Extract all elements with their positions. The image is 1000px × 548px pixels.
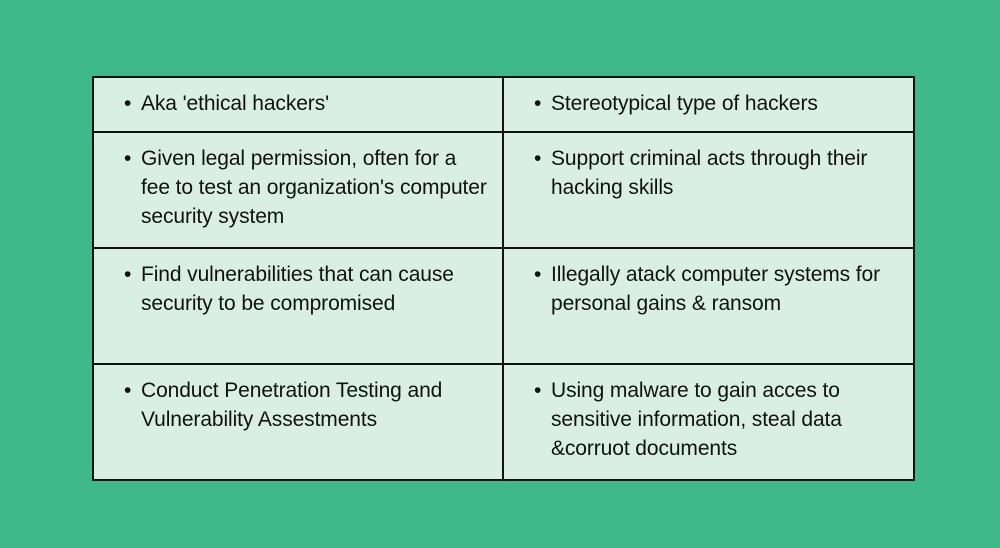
table-row: • Find vulnerabilities that can cause se… xyxy=(93,248,914,364)
bullet-text: Given legal permission, often for a fee … xyxy=(141,144,488,231)
bullet-item: • Given legal permission, often for a fe… xyxy=(94,133,502,247)
table-cell-right: • Support criminal acts through their ha… xyxy=(503,132,914,248)
bullet-item: • Stereotypical type of hackers xyxy=(504,78,913,131)
bullet-item: • Using malware to gain acces to sensiti… xyxy=(504,365,913,479)
page-canvas: • Aka 'ethical hackers' • Stereotypical … xyxy=(0,0,1000,548)
bullet-icon: • xyxy=(534,89,551,118)
bullet-icon: • xyxy=(124,89,141,118)
bullet-icon: • xyxy=(534,144,551,173)
bullet-text: Stereotypical type of hackers xyxy=(551,89,899,118)
bullet-text: Illegally atack computer systems for per… xyxy=(551,260,899,318)
table-cell-right: • Stereotypical type of hackers xyxy=(503,77,914,132)
table-cell-left: • Given legal permission, often for a fe… xyxy=(93,132,503,248)
table-cell-left: • Find vulnerabilities that can cause se… xyxy=(93,248,503,364)
bullet-icon: • xyxy=(124,260,141,289)
table-cell-left: • Conduct Penetration Testing and Vulner… xyxy=(93,364,503,480)
bullet-icon: • xyxy=(534,376,551,405)
bullet-icon: • xyxy=(124,376,141,405)
bullet-text: Support criminal acts through their hack… xyxy=(551,144,899,202)
bullet-icon: • xyxy=(534,260,551,289)
bullet-item: • Support criminal acts through their ha… xyxy=(504,133,913,247)
bullet-text: Using malware to gain acces to sensitive… xyxy=(551,376,899,463)
bullet-text: Aka 'ethical hackers' xyxy=(141,89,488,118)
table-body: • Aka 'ethical hackers' • Stereotypical … xyxy=(93,77,914,480)
comparison-table: • Aka 'ethical hackers' • Stereotypical … xyxy=(92,76,915,481)
table-cell-left: • Aka 'ethical hackers' xyxy=(93,77,503,132)
bullet-text: Conduct Penetration Testing and Vulnerab… xyxy=(141,376,488,434)
bullet-icon: • xyxy=(124,144,141,173)
table-cell-right: • Illegally atack computer systems for p… xyxy=(503,248,914,364)
bullet-item: • Find vulnerabilities that can cause se… xyxy=(94,249,502,363)
table-row: • Aka 'ethical hackers' • Stereotypical … xyxy=(93,77,914,132)
table-cell-right: • Using malware to gain acces to sensiti… xyxy=(503,364,914,480)
table-row: • Conduct Penetration Testing and Vulner… xyxy=(93,364,914,480)
bullet-item: • Conduct Penetration Testing and Vulner… xyxy=(94,365,502,479)
table-row: • Given legal permission, often for a fe… xyxy=(93,132,914,248)
bullet-text: Find vulnerabilities that can cause secu… xyxy=(141,260,488,318)
bullet-item: • Aka 'ethical hackers' xyxy=(94,78,502,131)
bullet-item: • Illegally atack computer systems for p… xyxy=(504,249,913,363)
